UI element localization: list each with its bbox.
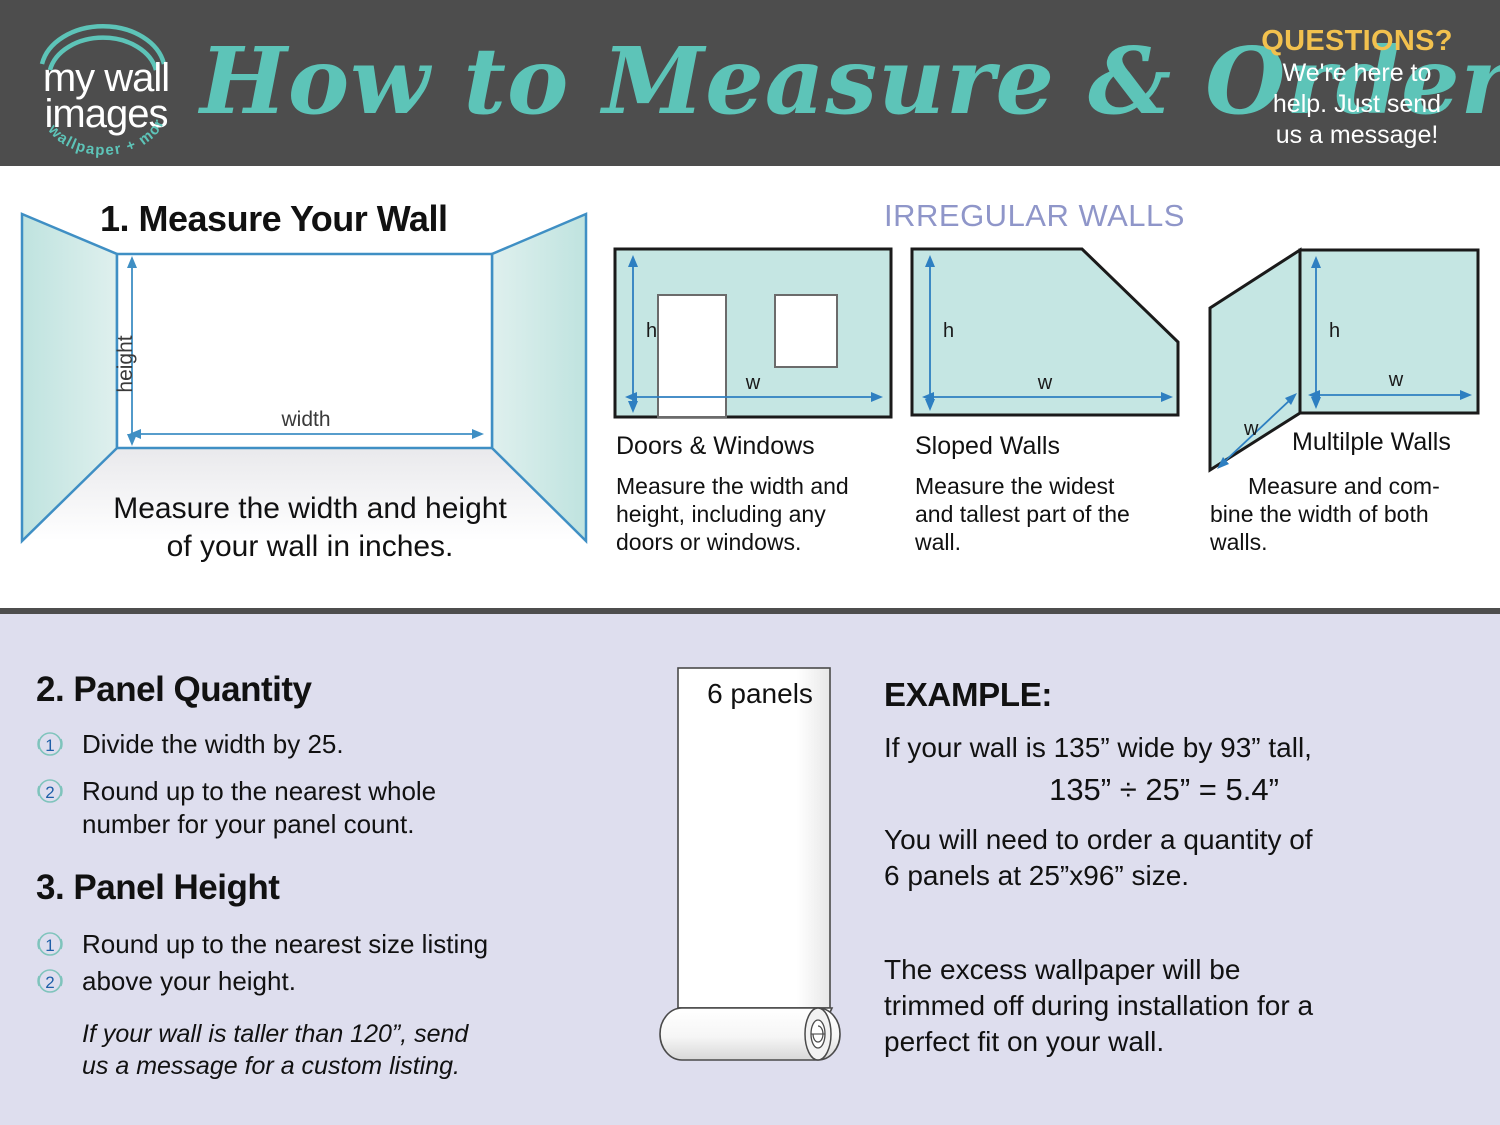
wallpaper-roll-graphic [660, 660, 860, 1100]
multiple-walls-desc: Measure and com- bine the width of both … [1248, 472, 1498, 556]
example-equation: 135” ÷ 25” = 5.4” [884, 772, 1444, 808]
irregular-walls-heading: IRREGULAR WALLS [884, 198, 1185, 234]
step3-note: If your wall is taller than 120”, send u… [82, 1018, 562, 1082]
page-title: How to Measure & Order [200, 14, 1210, 154]
step2-item-1-text: Divide the width by 25. [82, 728, 552, 761]
sw-desc-line-2: and tallest part of the [915, 500, 1185, 528]
step2-item-2-text: Round up to the nearest whole number for… [82, 775, 562, 841]
doors-windows-label: Doors & Windows [616, 432, 815, 461]
bullet-4-icon: 2 [34, 965, 66, 997]
step3-note-line-2: us a message for a custom listing. [82, 1050, 562, 1082]
svg-text:w: w [1243, 418, 1259, 440]
dw-desc-line-2: height, including any [616, 500, 896, 528]
svg-text:w: w [745, 372, 761, 394]
dw-desc-line-3: doors or windows. [616, 528, 896, 556]
logo-tagline: wallpaper + more [18, 12, 188, 162]
bullet-1-icon: 1 [34, 728, 66, 760]
example-line-6: perfect fit on your wall. [884, 1024, 1464, 1060]
svg-text:height: height [114, 335, 137, 392]
svg-text:1: 1 [45, 936, 54, 955]
svg-text:2: 2 [45, 973, 54, 992]
roll-panel-count-label: 6 panels [680, 678, 840, 710]
svg-text:2: 2 [45, 783, 54, 802]
step2-item-2-line-1: Round up to the nearest whole [82, 775, 562, 808]
svg-text:wallpaper + more: wallpaper + more [13, 0, 168, 159]
bullet-3-icon: 1 [34, 928, 66, 960]
step3-item-1-text: Round up to the nearest size listing [82, 928, 572, 961]
svg-text:width: width [280, 408, 330, 431]
example-line-5: trimmed off during installation for a [884, 988, 1464, 1024]
step1-caption: Measure the width and height of your wal… [60, 490, 560, 566]
svg-text:w: w [1037, 372, 1053, 394]
example-line-1: If your wall is 135” wide by 93” tall, [884, 730, 1464, 766]
sloped-walls-diagram: h w [910, 247, 1185, 419]
page-header: my wall images wallpaper + more How to M… [0, 0, 1500, 166]
svg-text:h: h [646, 320, 657, 342]
svg-text:h: h [1329, 320, 1340, 342]
sloped-walls-label: Sloped Walls [915, 432, 1060, 461]
doors-windows-diagram: h w [613, 247, 893, 419]
questions-title: QUESTIONS? [1232, 24, 1482, 58]
step2-title: 2. Panel Quantity [36, 670, 311, 710]
brand-logo: my wall images wallpaper + more [18, 12, 188, 157]
svg-text:1: 1 [45, 736, 54, 755]
step3-item-2-text: above your height. [82, 965, 552, 998]
step3-title: 3. Panel Height [36, 868, 279, 908]
step1-caption-line-1: Measure the width and height [60, 490, 560, 528]
svg-text:w: w [1388, 369, 1404, 391]
example-heading: EXAMPLE: [884, 676, 1052, 714]
sw-desc-line-3: wall. [915, 528, 1185, 556]
questions-line-2: help. Just send [1232, 89, 1482, 120]
questions-line-1: We're here to [1232, 58, 1482, 89]
step1-caption-line-2: of your wall in inches. [60, 528, 560, 566]
step3-note-line-1: If your wall is taller than 120”, send [82, 1018, 562, 1050]
step1-title: 1. Measure Your Wall [100, 198, 447, 240]
multiple-walls-label: Multilple Walls [1292, 428, 1451, 457]
sloped-walls-desc: Measure the widest and tallest part of t… [915, 472, 1185, 556]
step2-item-2-line-2: number for your panel count. [82, 808, 562, 841]
sw-desc-line-1: Measure the widest [915, 472, 1185, 500]
svg-text:h: h [943, 320, 954, 342]
mw-desc-line-2: bine the width of both [1210, 500, 1498, 528]
mw-desc-line-1: Measure and com- [1248, 472, 1498, 500]
mw-desc-line-3: walls. [1210, 528, 1498, 556]
bullet-2-icon: 2 [34, 775, 66, 807]
example-line-4: The excess wallpaper will be [884, 952, 1464, 988]
questions-block: QUESTIONS? We're here to help. Just send… [1232, 24, 1482, 151]
example-line-2: You will need to order a quantity of [884, 822, 1464, 858]
questions-line-3: us a message! [1232, 120, 1482, 151]
example-line-3: 6 panels at 25”x96” size. [884, 858, 1464, 894]
dw-desc-line-1: Measure the width and [616, 472, 896, 500]
doors-windows-desc: Measure the width and height, including … [616, 472, 896, 556]
